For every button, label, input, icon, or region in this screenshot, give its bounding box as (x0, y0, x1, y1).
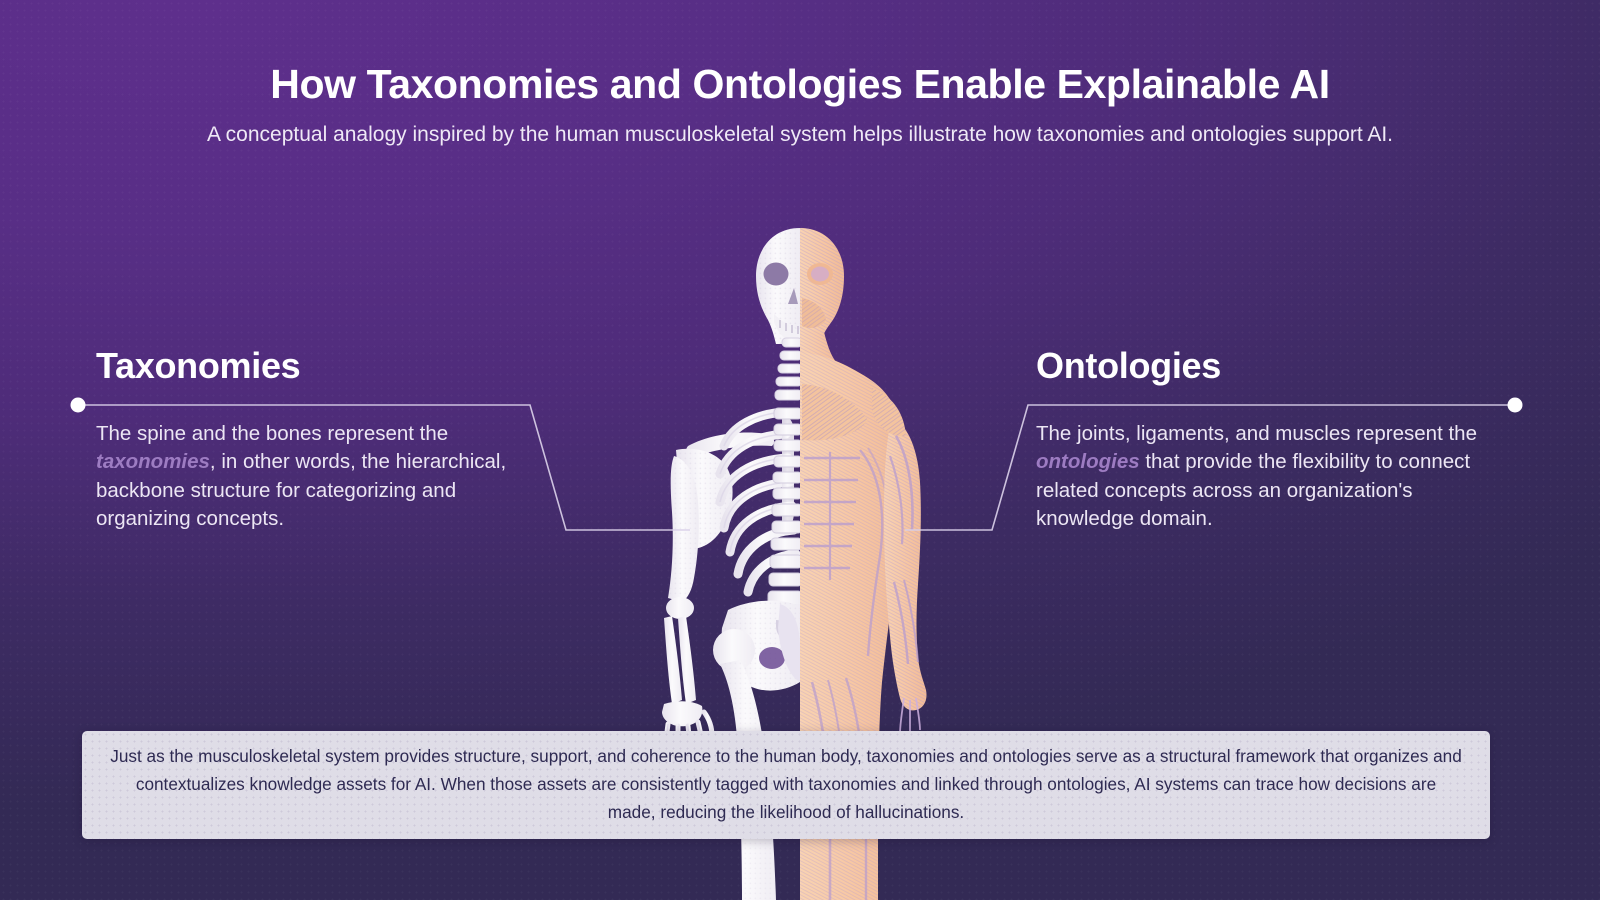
taxonomies-panel: Taxonomies The spine and the bones repre… (96, 348, 566, 533)
summary-caption-text: Just as the musculoskeletal system provi… (110, 743, 1462, 827)
taxonomies-body: The spine and the bones represent the ta… (96, 420, 526, 533)
page-title: How Taxonomies and Ontologies Enable Exp… (0, 62, 1600, 106)
taxonomies-body-prefix: The spine and the bones represent the (96, 422, 448, 445)
right-leader-dot (1508, 398, 1523, 413)
ontologies-body: The joints, ligaments, and muscles repre… (1036, 420, 1484, 533)
ontologies-highlight: ontologies (1036, 450, 1140, 473)
ontologies-body-prefix: The joints, ligaments, and muscles repre… (1036, 422, 1477, 445)
taxonomies-heading: Taxonomies (96, 348, 566, 384)
header: How Taxonomies and Ontologies Enable Exp… (0, 0, 1600, 150)
ontologies-panel: Ontologies The joints, ligaments, and mu… (1036, 348, 1506, 533)
ontologies-heading: Ontologies (1036, 348, 1506, 384)
infographic-canvas: How Taxonomies and Ontologies Enable Exp… (0, 0, 1600, 900)
taxonomies-highlight: taxonomies (96, 450, 210, 473)
left-leader-dot (71, 398, 86, 413)
summary-caption-box: Just as the musculoskeletal system provi… (82, 731, 1490, 839)
page-subtitle: A conceptual analogy inspired by the hum… (130, 120, 1470, 150)
